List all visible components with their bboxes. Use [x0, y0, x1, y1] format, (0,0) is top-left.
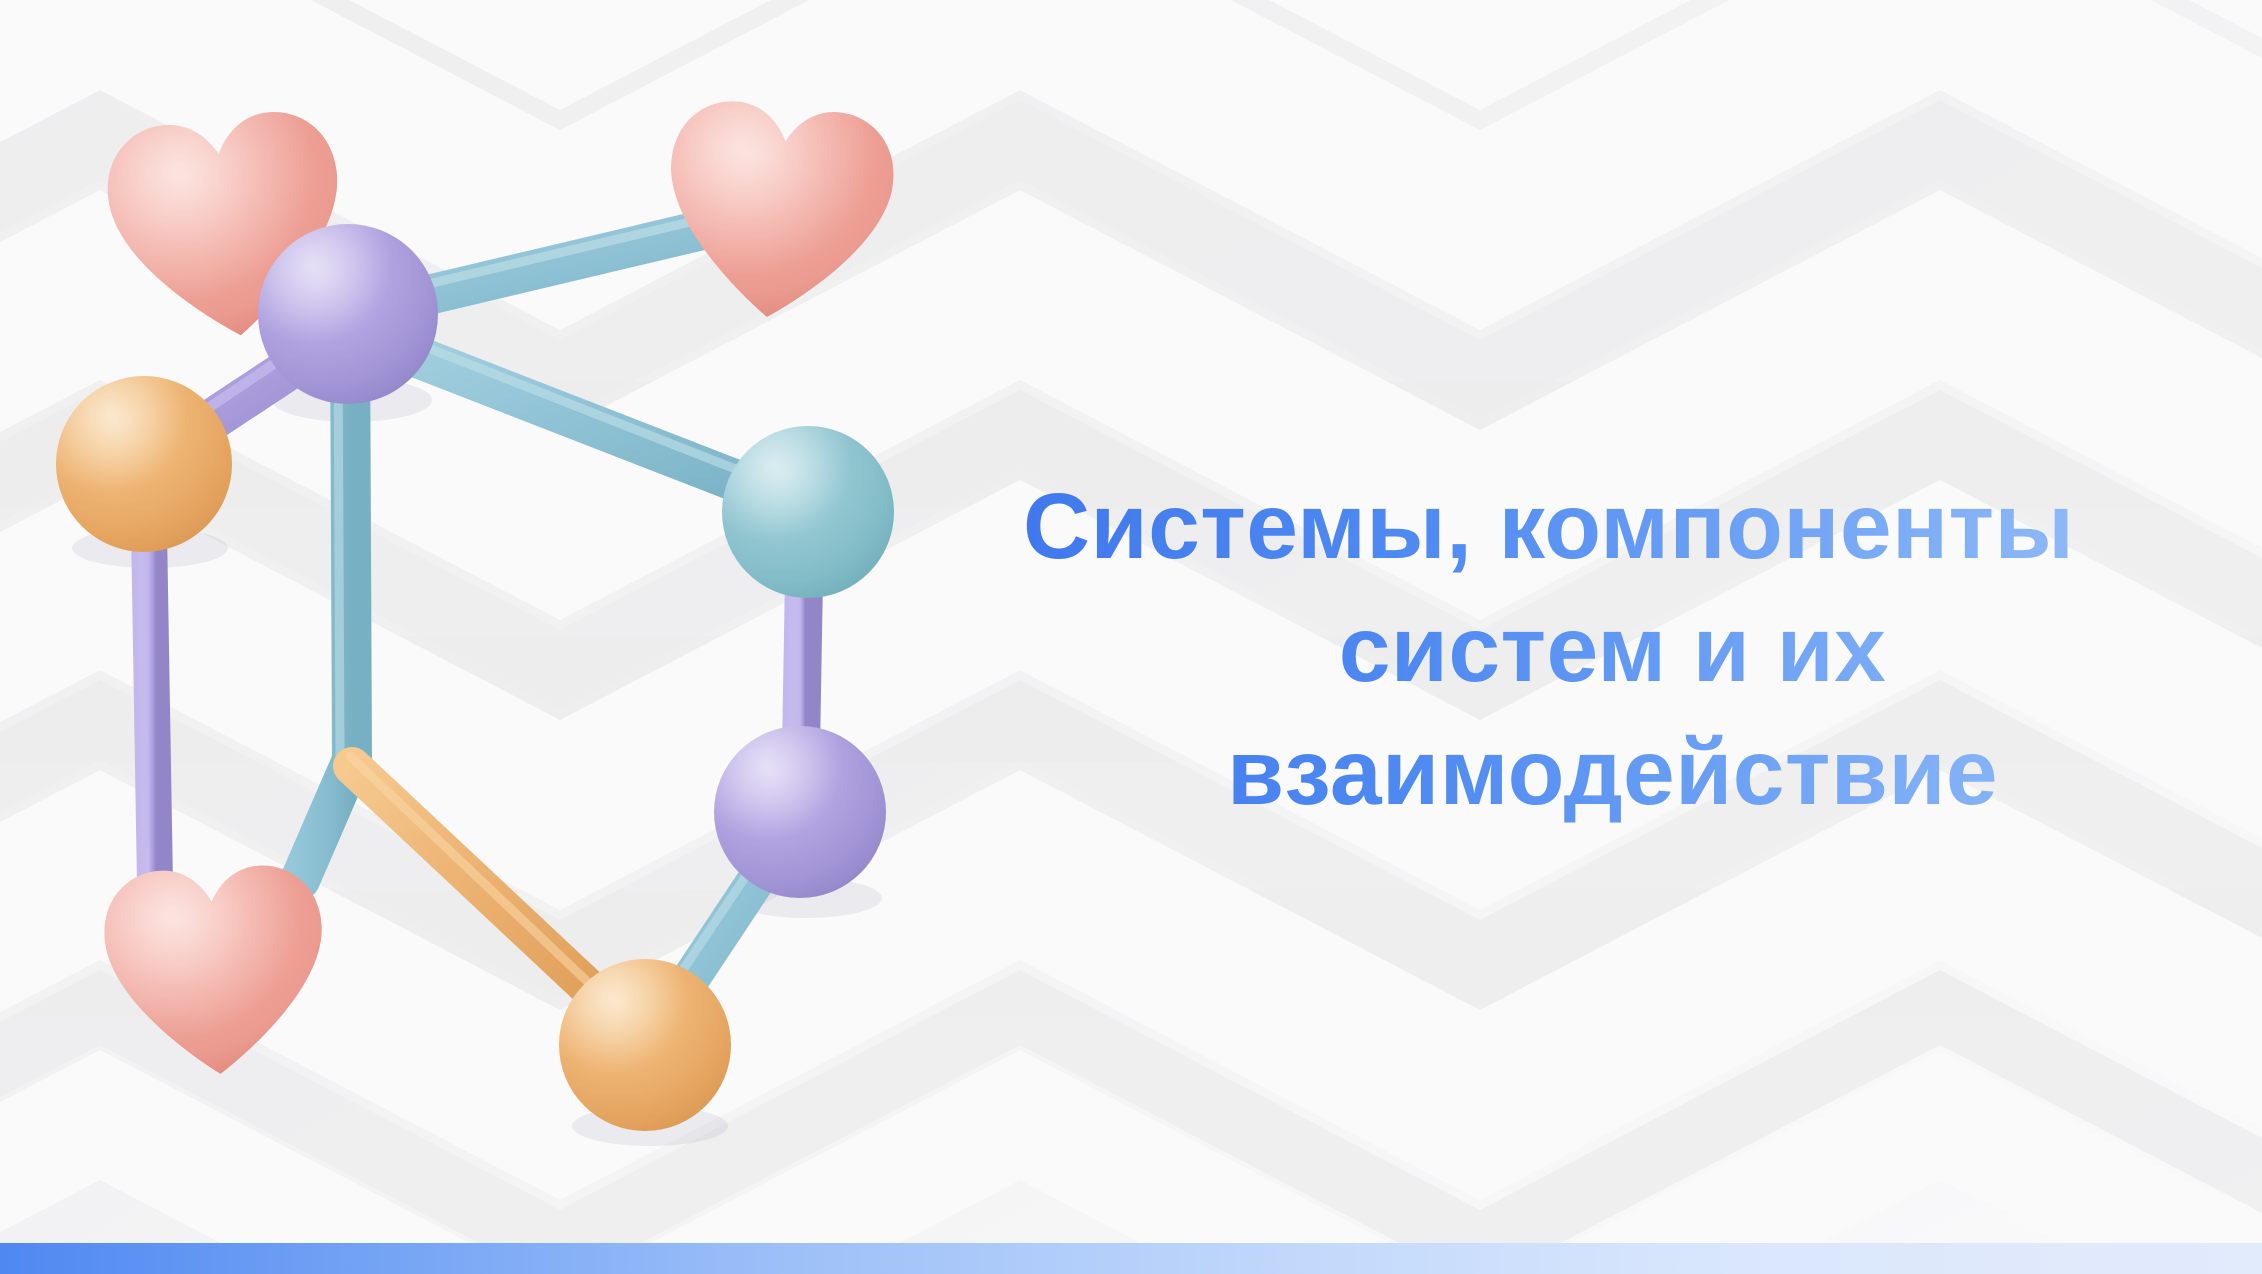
- footer-accent-bar: [0, 1243, 2262, 1274]
- title-line-2: систем и их: [1005, 588, 2220, 711]
- molecule-illustration: [0, 0, 950, 1240]
- node-heart-bottom-left: [101, 862, 329, 1079]
- bond-center-to-heart-bottom-left: [232, 330, 352, 940]
- node-sphere-orange-left: [56, 376, 232, 552]
- node-sphere-center-purple: [258, 224, 438, 404]
- node-sphere-orange-bottom: [559, 959, 731, 1131]
- node-sphere-teal-right: [722, 426, 894, 598]
- title-line-1: Системы, компоненты: [1005, 465, 2220, 588]
- slide-title: Системы, компоненты систем и их взаимоде…: [1005, 465, 2220, 833]
- molecule-svg: [0, 0, 950, 1240]
- slide-canvas: Системы, компоненты систем и их взаимоде…: [0, 0, 2262, 1274]
- title-line-3: взаимодействие: [1005, 711, 2220, 834]
- node-sphere-purple-right: [714, 726, 886, 898]
- node-heart-top-right: [656, 95, 900, 328]
